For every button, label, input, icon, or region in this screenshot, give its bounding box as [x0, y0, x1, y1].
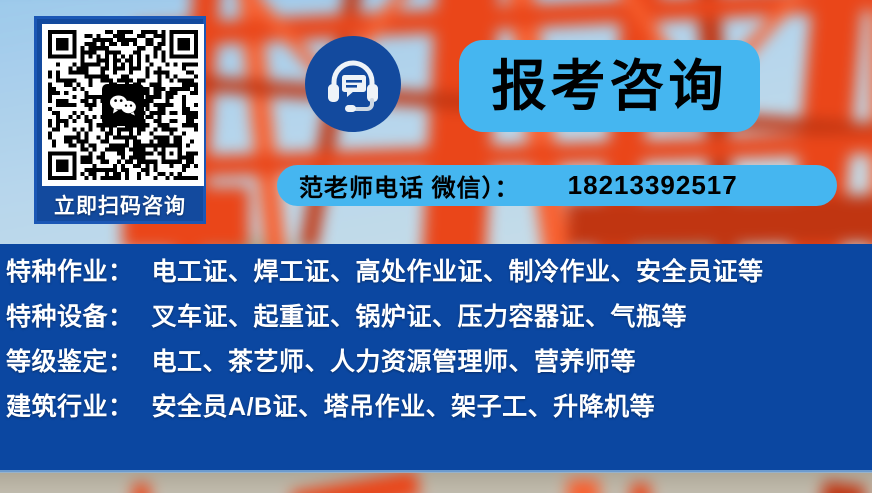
certificate-items-label: 安全员A/B证、塔吊作业、架子工、升降机等	[152, 387, 656, 423]
certificate-items-label: 电工、茶艺师、人力资源管理师、营养师等	[152, 342, 637, 378]
qr-caption: 立即扫码咨询	[42, 186, 198, 224]
qr-code-frame	[42, 24, 204, 186]
certificate-row-special-equipment: 特种设备： 叉车证、起重证、锅炉证、压力容器证、气瓶等	[6, 297, 866, 342]
certificate-category-label: 特种设备：	[6, 297, 134, 333]
certificate-items-label: 叉车证、起重证、锅炉证、压力容器证、气瓶等	[152, 297, 688, 333]
contact-label: 范老师电话 微信）：	[299, 168, 520, 203]
certificate-items-label: 电工证、焊工证、高处作业证、制冷作业、安全员证等	[152, 252, 764, 288]
title-pill[interactable]: 报考咨询	[459, 40, 760, 132]
contact-pill[interactable]: 范老师电话 微信）： 18213392517	[277, 165, 837, 206]
certificate-category-label: 特种作业：	[6, 252, 134, 288]
headset-support-icon	[305, 36, 401, 132]
certificate-category-label: 等级鉴定：	[6, 342, 134, 378]
certificate-row-construction-industry: 建筑行业： 安全员A/B证、塔吊作业、架子工、升降机等	[6, 387, 866, 432]
contact-phone-number[interactable]: 18213392517	[568, 170, 738, 201]
page-title: 报考咨询	[491, 59, 727, 114]
certificate-row-special-operations: 特种作业： 电工证、焊工证、高处作业证、制冷作业、安全员证等	[6, 252, 866, 297]
certificate-list: 特种作业： 电工证、焊工证、高处作业证、制冷作业、安全员证等 特种设备： 叉车证…	[0, 252, 872, 432]
panel-bottom-divider	[0, 470, 872, 473]
qr-scan-card[interactable]: 立即扫码咨询	[34, 16, 206, 224]
certificate-row-grade-appraisal: 等级鉴定： 电工、茶艺师、人力资源管理师、营养师等	[6, 342, 866, 387]
certificate-category-label: 建筑行业：	[6, 387, 134, 423]
qr-code-icon[interactable]	[48, 30, 198, 180]
promo-poster: 特种作业： 电工证、焊工证、高处作业证、制冷作业、安全员证等 特种设备： 叉车证…	[0, 0, 872, 493]
wechat-logo-icon	[102, 84, 144, 126]
